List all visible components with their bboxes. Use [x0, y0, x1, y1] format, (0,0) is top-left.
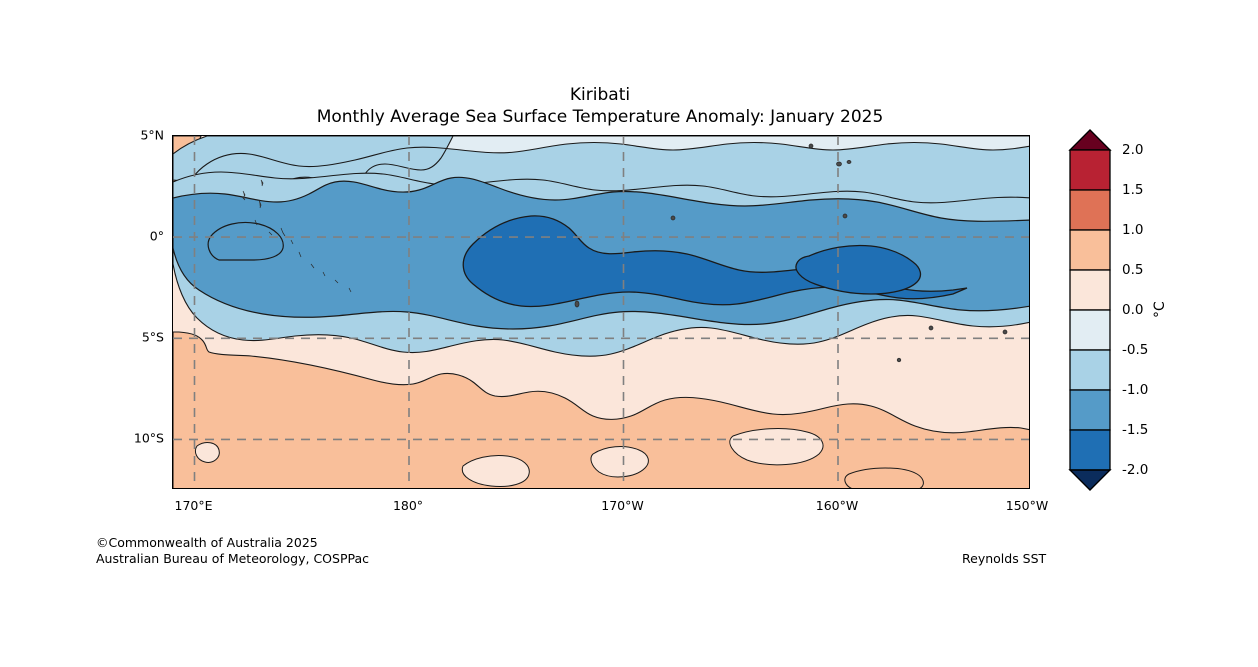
colorbar-band-1	[1070, 150, 1110, 190]
colorbar-over-triangle	[1070, 130, 1110, 150]
agency-text: Australian Bureau of Meteorology, COSPPa…	[96, 551, 369, 567]
ytick-label-5n: 5°N	[122, 128, 164, 143]
colorbar-band-8	[1070, 430, 1110, 470]
ytick-label-10s: 10°S	[116, 431, 164, 446]
chart-title: Kiribati Monthly Average Sea Surface Tem…	[0, 84, 1200, 128]
colorbar: 2.0 1.5 1.0 0.5 0.0 -0.5 -1.0 -1.5 -2.0	[1068, 128, 1128, 494]
colorbar-tick-1.5: 1.5	[1122, 182, 1143, 198]
colorbar-unit-label: °C	[1152, 301, 1168, 318]
contour-warm-blob-se	[845, 468, 924, 489]
ytick-label-5s: 5°S	[122, 330, 164, 345]
ytick-label-0: 0°	[122, 229, 164, 244]
colorbar-tick-2.0: 2.0	[1122, 142, 1143, 158]
colorbar-tick-m1.5: -1.5	[1122, 422, 1148, 438]
colorbar-tick-m0.5: -0.5	[1122, 342, 1148, 358]
sst-anomaly-contour-map	[173, 136, 1030, 489]
figure-canvas: Kiribati Monthly Average Sea Surface Tem…	[0, 0, 1258, 667]
xtick-label-170w: 170°W	[601, 498, 643, 513]
colorbar-band-5	[1070, 310, 1110, 350]
colorbar-tick-m1.0: -1.0	[1122, 382, 1148, 398]
colorbar-band-4	[1070, 270, 1110, 310]
colorbar-swatches	[1068, 128, 1128, 494]
map-plot-area	[172, 135, 1030, 489]
xtick-label-180: 180°	[393, 498, 423, 513]
contour-spot-pale-sw	[195, 443, 219, 463]
contour-hole-pale-c	[591, 447, 648, 477]
title-description: Monthly Average Sea Surface Temperature …	[0, 106, 1200, 128]
colorbar-band-2	[1070, 190, 1110, 230]
footer-attribution: ©Commonwealth of Australia 2025 Australi…	[96, 535, 369, 567]
xtick-label-150w: 150°W	[1006, 498, 1048, 513]
xtick-label-160w: 160°W	[816, 498, 858, 513]
colorbar-band-3	[1070, 230, 1110, 270]
colorbar-tick-m2.0: -2.0	[1122, 462, 1148, 478]
colorbar-band-6	[1070, 350, 1110, 390]
colorbar-tick-0.0: 0.0	[1122, 302, 1143, 318]
colorbar-tick-1.0: 1.0	[1122, 222, 1143, 238]
xtick-label-170e: 170°E	[174, 498, 212, 513]
colorbar-band-7	[1070, 390, 1110, 430]
colorbar-tick-0.5: 0.5	[1122, 262, 1143, 278]
copyright-text: ©Commonwealth of Australia 2025	[96, 535, 369, 551]
title-region: Kiribati	[0, 84, 1200, 106]
data-source-label: Reynolds SST	[962, 551, 1046, 566]
colorbar-under-triangle	[1070, 470, 1110, 490]
